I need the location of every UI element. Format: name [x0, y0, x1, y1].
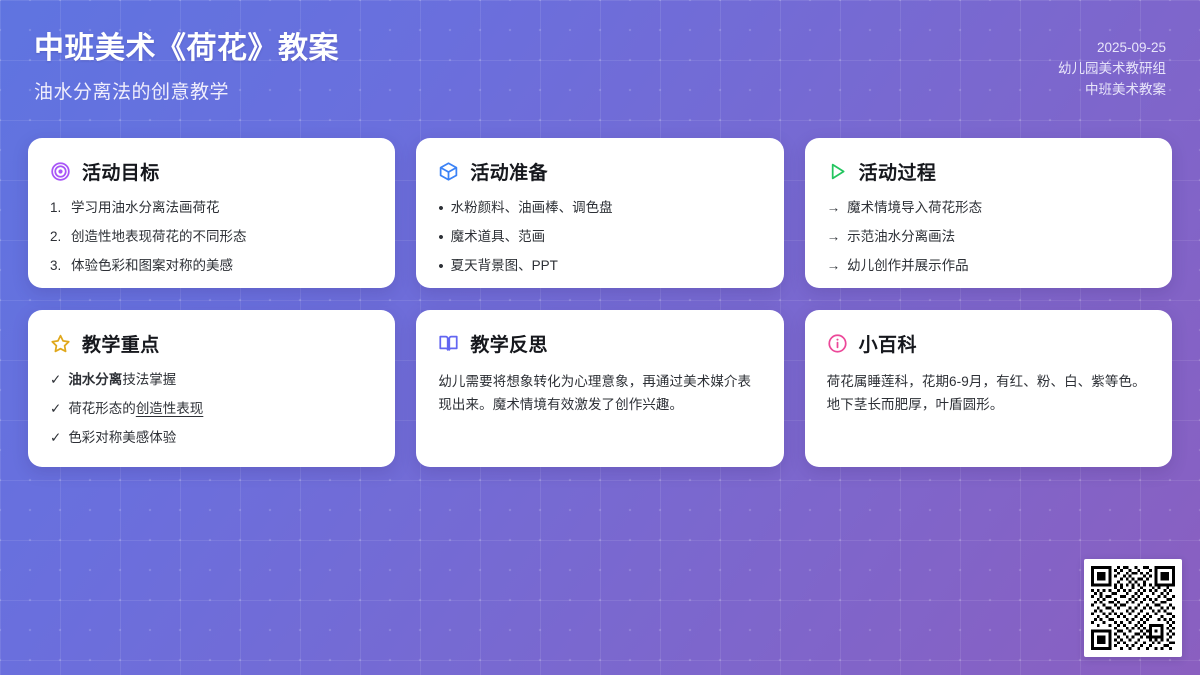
list-item: → 示范油水分离画法 [827, 227, 1150, 247]
card-title: 教学反思 [470, 330, 548, 357]
card-title: 活动准备 [470, 158, 548, 185]
list-item: • 魔术道具、范画 [438, 227, 761, 247]
item-marker: → [827, 198, 841, 218]
item-text: 魔术道具、范画 [451, 227, 546, 247]
card-grid: 活动目标 1. 学习用油水分离法画荷花 2. 创造性地表现荷花的不同形态 3. … [28, 138, 1172, 467]
item-text: 体验色彩和图案对称的美感 [71, 256, 233, 276]
item-marker: → [827, 227, 841, 247]
item-text: 荷花形态的创造性表现 [68, 399, 203, 419]
meta-organization: 幼儿园美术教研组 [1058, 59, 1166, 80]
star-icon [50, 333, 71, 354]
item-marker: ✓ [50, 370, 61, 390]
qr-code-image [1091, 566, 1175, 650]
card-activity-process: 活动过程 → 魔术情境导入荷花形态 → 示范油水分离画法 → 幼儿创作并展示作品 [805, 138, 1172, 288]
item-text-bold: 油水分离 [68, 372, 122, 387]
item-marker: • [438, 201, 443, 216]
item-marker: 3. [50, 256, 64, 276]
item-marker: ✓ [50, 399, 61, 419]
title-group: 中班美术《荷花》教案 油水分离法的创意教学 [34, 30, 339, 104]
page-title: 中班美术《荷花》教案 [34, 30, 339, 68]
target-icon [50, 161, 71, 182]
card-teaching-focus: 教学重点 ✓ 油水分离技法掌握 ✓ 荷花形态的创造性表现 ✓ 色彩对称美感体验 [28, 310, 395, 467]
item-text: 创造性地表现荷花的不同形态 [71, 227, 247, 247]
item-marker: → [827, 256, 841, 276]
header-meta: 2025-09-25 幼儿园美术教研组 中班美术教案 [1058, 30, 1166, 101]
focus-list: ✓ 油水分离技法掌握 ✓ 荷花形态的创造性表现 ✓ 色彩对称美感体验 [50, 370, 373, 448]
item-marker: 2. [50, 227, 64, 247]
card-activity-goals: 活动目标 1. 学习用油水分离法画荷花 2. 创造性地表现荷花的不同形态 3. … [28, 138, 395, 288]
card-header: 教学反思 [438, 330, 761, 357]
preparation-list: • 水粉颜料、油画棒、调色盘 • 魔术道具、范画 • 夏天背景图、PPT [438, 198, 761, 276]
list-item: 2. 创造性地表现荷花的不同形态 [50, 227, 373, 247]
card-encyclopedia: 小百科 荷花属睡莲科，花期6-9月，有红、粉、白、紫等色。地下茎长而肥厚，叶盾圆… [805, 310, 1172, 467]
card-header: 教学重点 [50, 330, 373, 357]
card-header: 活动过程 [827, 158, 1150, 185]
item-text: 水粉颜料、油画棒、调色盘 [451, 198, 613, 218]
cube-icon [438, 161, 459, 182]
item-marker: ✓ [50, 428, 61, 448]
list-item: → 魔术情境导入荷花形态 [827, 198, 1150, 218]
item-text: 示范油水分离画法 [847, 227, 955, 247]
item-text: 魔术情境导入荷花形态 [847, 198, 982, 218]
card-activity-preparation: 活动准备 • 水粉颜料、油画棒、调色盘 • 魔术道具、范画 • 夏天背景图、PP… [416, 138, 783, 288]
process-list: → 魔术情境导入荷花形态 → 示范油水分离画法 → 幼儿创作并展示作品 [827, 198, 1150, 276]
card-title: 教学重点 [82, 330, 160, 357]
item-text: 幼儿创作并展示作品 [847, 256, 969, 276]
goals-list: 1. 学习用油水分离法画荷花 2. 创造性地表现荷花的不同形态 3. 体验色彩和… [50, 198, 373, 276]
encyclopedia-paragraph: 荷花属睡莲科，花期6-9月，有红、粉、白、紫等色。地下茎长而肥厚，叶盾圆形。 [827, 370, 1150, 416]
info-circle-icon [827, 333, 848, 354]
card-title: 小百科 [859, 330, 917, 357]
card-header: 小百科 [827, 330, 1150, 357]
page-subtitle: 油水分离法的创意教学 [34, 77, 339, 104]
card-title: 活动目标 [82, 158, 160, 185]
play-triangle-icon [827, 161, 848, 182]
list-item: • 夏天背景图、PPT [438, 256, 761, 276]
qr-code[interactable] [1084, 559, 1182, 657]
item-text-plain: 荷花形态的 [68, 401, 136, 416]
item-text: 油水分离技法掌握 [68, 370, 176, 390]
book-icon [438, 333, 459, 354]
list-item: ✓ 色彩对称美感体验 [50, 428, 373, 448]
card-header: 活动准备 [438, 158, 761, 185]
list-item: ✓ 油水分离技法掌握 [50, 370, 373, 390]
list-item: ✓ 荷花形态的创造性表现 [50, 399, 373, 419]
meta-date: 2025-09-25 [1058, 38, 1166, 59]
list-item: 3. 体验色彩和图案对称的美感 [50, 256, 373, 276]
item-text: 色彩对称美感体验 [68, 428, 176, 448]
item-text-rest: 技法掌握 [122, 372, 176, 387]
list-item: → 幼儿创作并展示作品 [827, 256, 1150, 276]
item-text: 夏天背景图、PPT [451, 256, 558, 276]
slide-page: 中班美术《荷花》教案 油水分离法的创意教学 2025-09-25 幼儿园美术教研… [0, 0, 1200, 675]
card-title: 活动过程 [859, 158, 937, 185]
item-text-underlined: 创造性表现 [136, 401, 204, 416]
reflection-paragraph: 幼儿需要将想象转化为心理意象，再通过美术媒介表现出来。魔术情境有效激发了创作兴趣… [438, 370, 761, 416]
item-text: 学习用油水分离法画荷花 [71, 198, 220, 218]
card-teaching-reflection: 教学反思 幼儿需要将想象转化为心理意象，再通过美术媒介表现出来。魔术情境有效激发… [416, 310, 783, 467]
item-marker: 1. [50, 198, 64, 218]
item-marker: • [438, 259, 443, 274]
item-marker: • [438, 230, 443, 245]
meta-category: 中班美术教案 [1058, 80, 1166, 101]
list-item: 1. 学习用油水分离法画荷花 [50, 198, 373, 218]
page-header: 中班美术《荷花》教案 油水分离法的创意教学 2025-09-25 幼儿园美术教研… [0, 0, 1200, 128]
list-item: • 水粉颜料、油画棒、调色盘 [438, 198, 761, 218]
card-header: 活动目标 [50, 158, 373, 185]
